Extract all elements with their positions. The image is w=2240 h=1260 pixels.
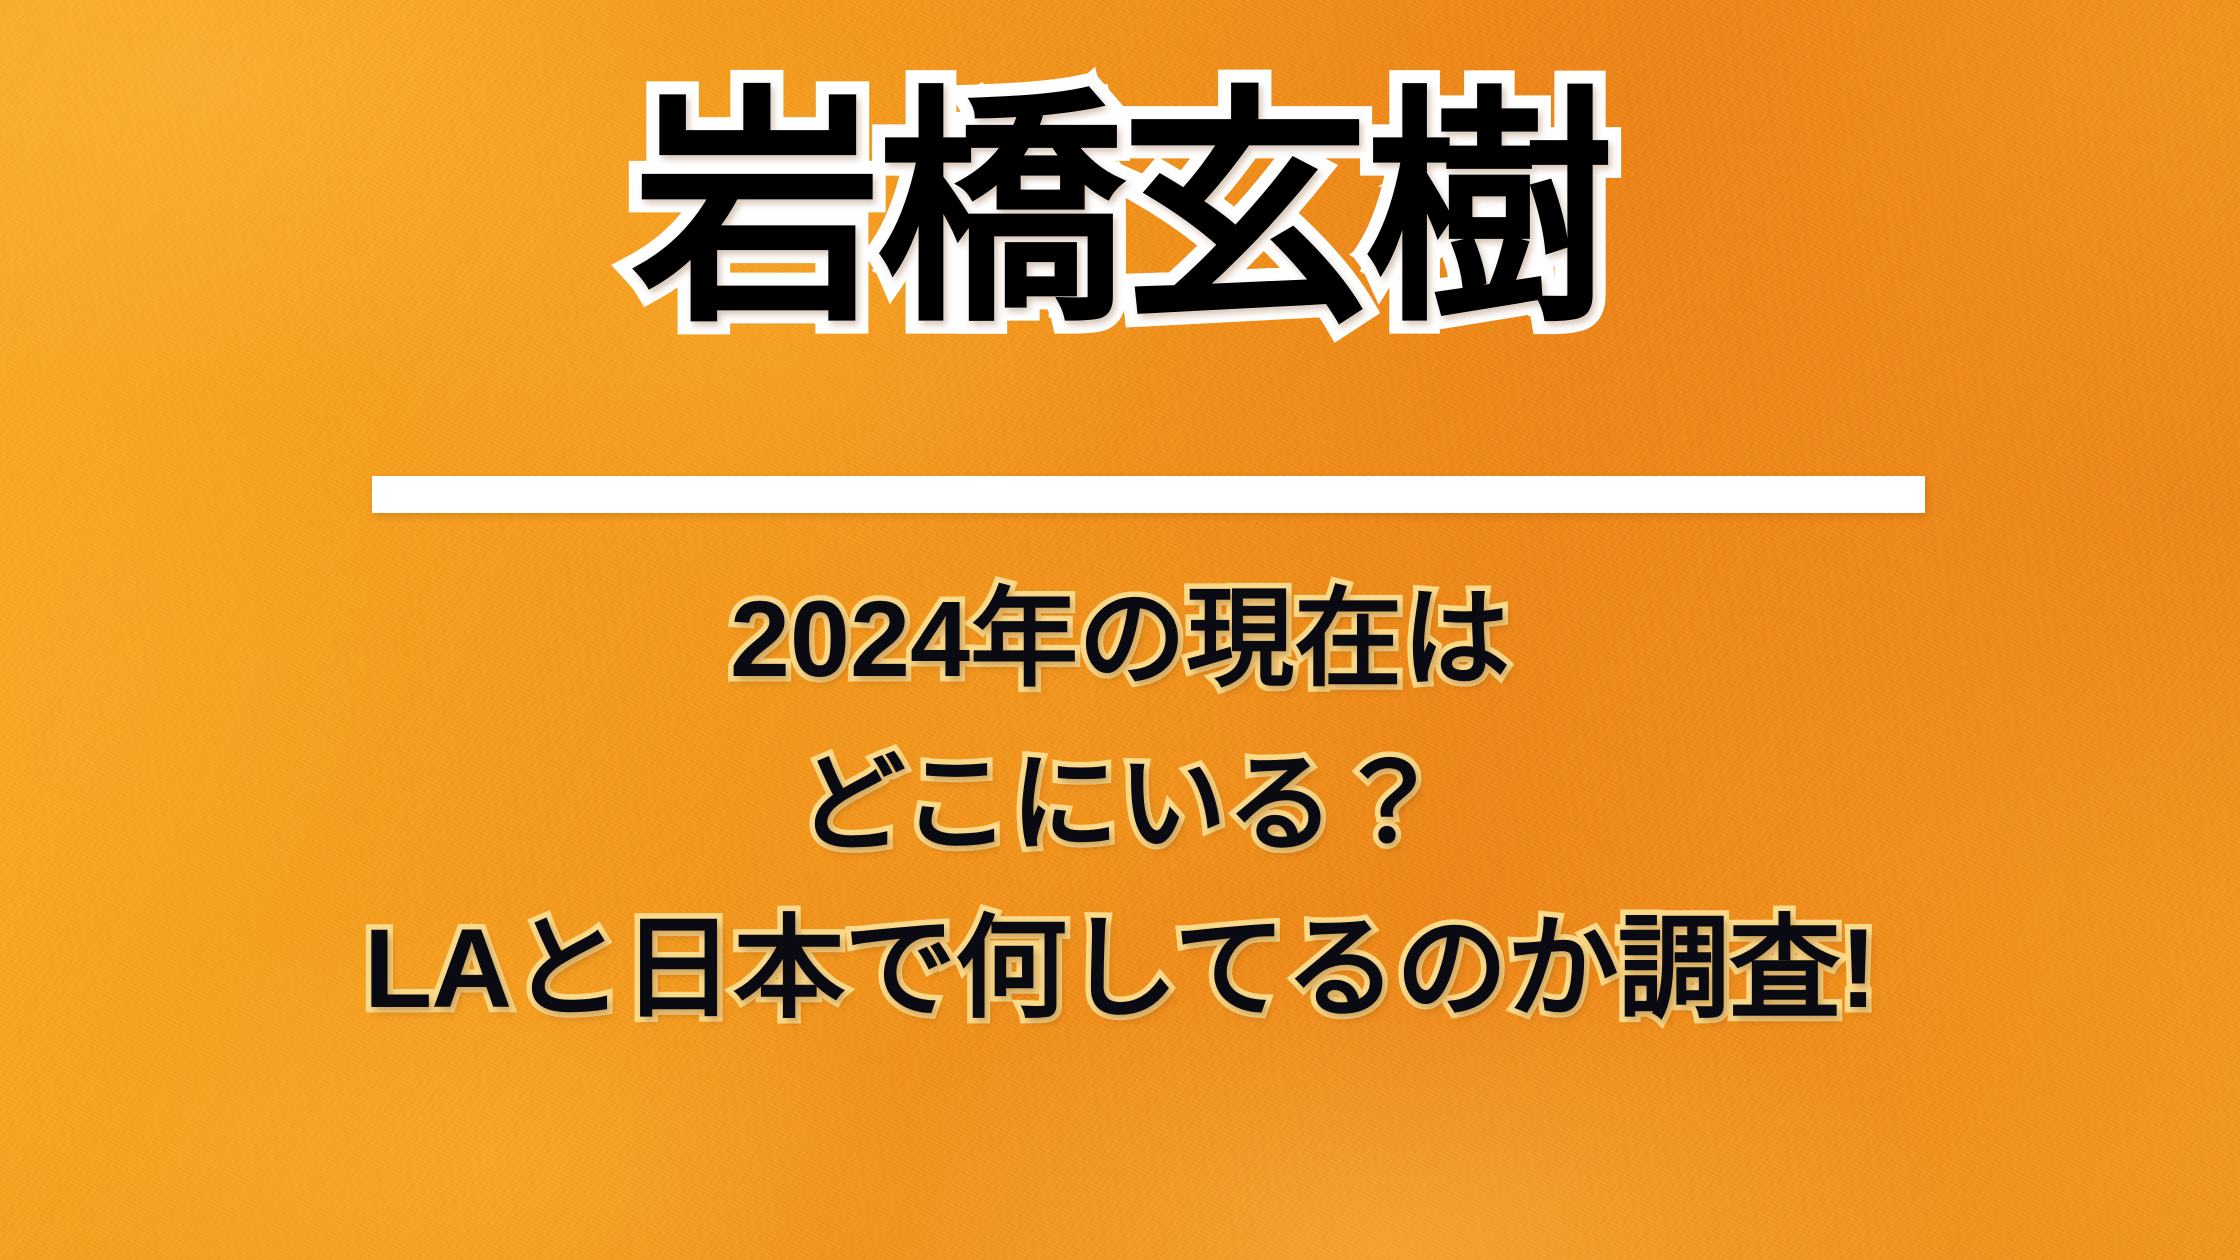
subtitle-line-2: どこにいる？ (0, 721, 2240, 886)
subtitle-line-3: LAと日本で何してるのか調査! (0, 886, 2240, 1051)
subtitle-block: 2024年の現在は どこにいる？ LAと日本で何してるのか調査! (0, 556, 2240, 1051)
subtitle-line-1: 2024年の現在は (0, 556, 2240, 721)
thumbnail-canvas: 岩橋玄樹 2024年の現在は どこにいる？ LAと日本で何してるのか調査! (0, 0, 2240, 1260)
title-divider (372, 476, 1925, 513)
content-layer: 岩橋玄樹 2024年の現在は どこにいる？ LAと日本で何してるのか調査! (0, 0, 2240, 1260)
page-title: 岩橋玄樹 (0, 78, 2240, 343)
